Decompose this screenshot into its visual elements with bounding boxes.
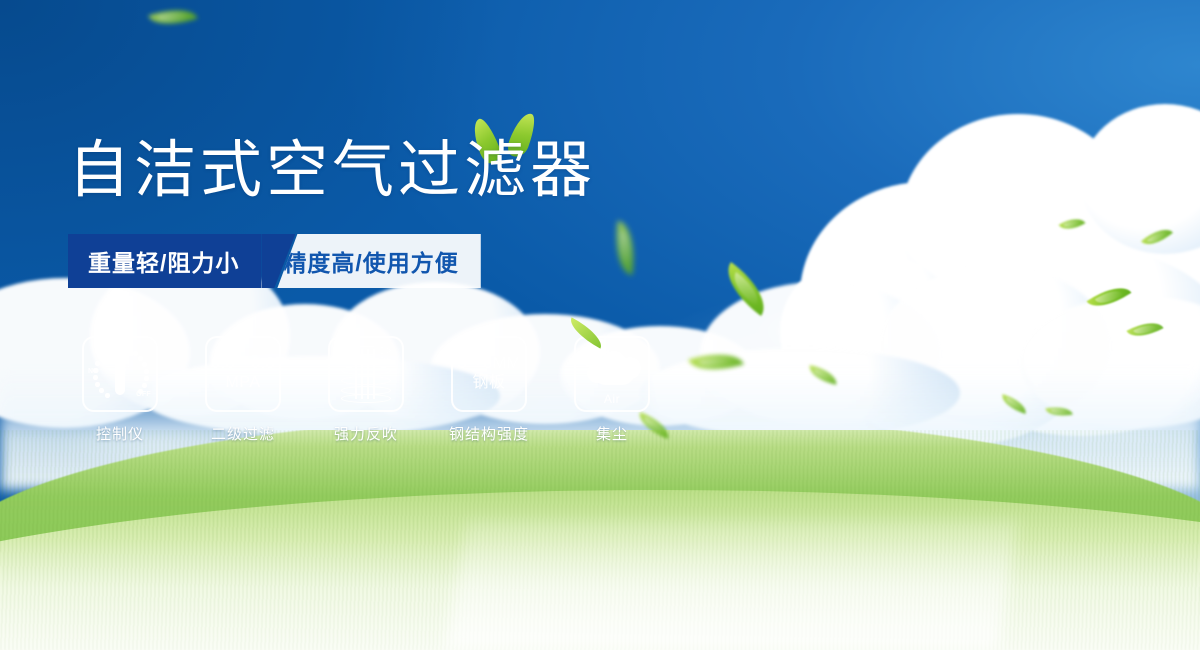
dial-on-label: NO [88,368,99,375]
air-caption: Air [581,392,643,406]
grass-glow [0,540,1200,650]
feature-item-control[interactable]: NO OFF 控制仪 [72,336,168,444]
feature-list: NO OFF 控制仪 0.6〜0.8 MPA 二级过滤 [72,336,660,444]
steel-material: 钢板 [458,374,521,393]
subtitle-left-text: 重量轻/阻力小 [68,234,261,288]
subtitle-bar: 重量轻/阻力小 精度高/使用方便 [68,234,481,288]
feature-label: 二级过滤 [211,423,275,444]
filter-coil-icon [341,345,391,403]
dial-off-label: OFF [136,391,151,398]
control-dial-icon: NO OFF [88,344,152,404]
feature-icon-box: 0.6〜0.8 MPA [205,336,281,412]
feature-label: 强力反吹 [334,423,398,444]
grass-field [0,430,1200,650]
steel-plate-text-icon: 3〜8MM 钢板 [458,355,521,393]
feature-icon-box: NO OFF [82,336,158,412]
pressure-unit: MPA [211,374,275,393]
feature-icon-box: 3〜8MM 钢板 [451,336,527,412]
pressure-range: 0.6〜0.8 [211,355,275,374]
feature-label: 控制仪 [96,423,144,444]
page-title: 自洁式空气过滤器 [68,140,596,202]
subtitle-right-text: 精度高/使用方便 [277,234,480,288]
cloud-air-icon: Air [581,345,643,403]
feature-icon-box: Air [574,336,650,412]
product-banner: 自洁式空气过滤器 重量轻/阻力小 精度高/使用方便 [0,0,1200,650]
feature-icon-box [328,336,404,412]
feature-item-pressure[interactable]: 0.6〜0.8 MPA 二级过滤 [195,336,291,444]
steel-thickness: 3〜8MM [458,355,521,374]
feature-label: 钢结构强度 [449,423,529,444]
feature-item-steel[interactable]: 3〜8MM 钢板 钢结构强度 [441,336,537,444]
feature-label: 集尘 [596,423,628,444]
feature-item-blowback[interactable]: 强力反吹 [318,336,414,444]
pressure-text-icon: 0.6〜0.8 MPA [211,355,275,393]
feature-item-dust[interactable]: Air 集尘 [564,336,660,444]
